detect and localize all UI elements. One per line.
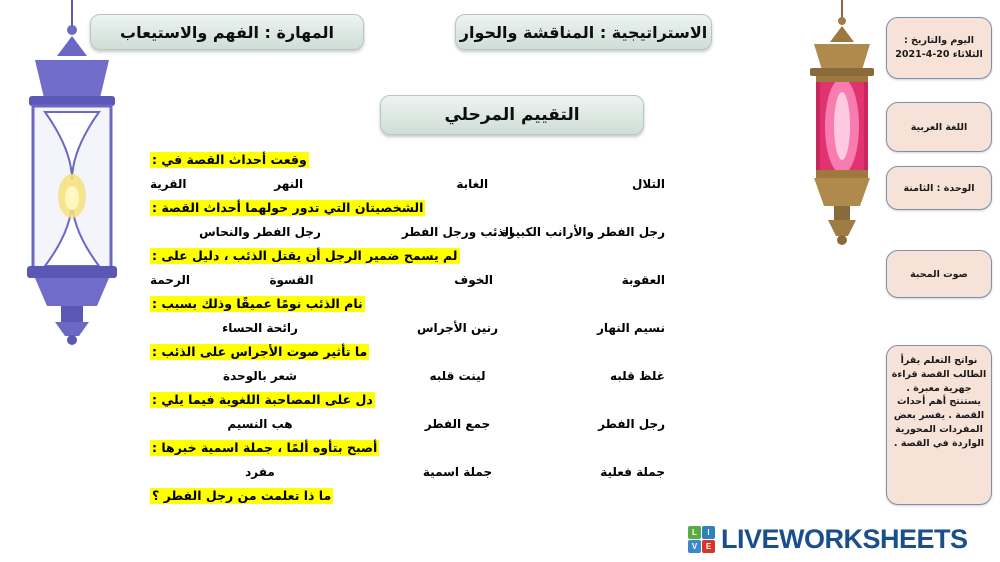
answer-option[interactable]: رنين الأجراس — [370, 321, 545, 335]
answer-option[interactable]: العقوبة — [554, 273, 665, 287]
unit-info-box: الوحدة : الثامنة — [886, 166, 992, 210]
logo-tile-v: V — [688, 540, 701, 553]
answer-option[interactable]: الرحمة — [150, 273, 190, 287]
date-info-box: اليوم والتاريخ : الثلاثاء 20-4-2021 — [886, 17, 992, 79]
logo-tile-e: E — [702, 540, 715, 553]
answer-option[interactable]: جملة اسمية — [370, 465, 545, 479]
assessment-title-box: التقييم المرحلي — [380, 95, 644, 135]
question-prompt-text: وقعت أحداث القصة في : — [150, 152, 309, 167]
question-prompt: أصبح بتأوه ألمًا ، جملة اسمية خبرها : — [150, 438, 695, 458]
answer-option[interactable]: الذئب ورجل الفطر — [370, 225, 545, 239]
question-prompt: وقعت أحداث القصة في : — [150, 150, 695, 170]
question-prompt: الشخصيتان التي تدور حولهما أحداث القصة : — [150, 198, 695, 218]
answer-option[interactable]: القسوة — [190, 273, 393, 287]
question-prompt-text: لم يسمح ضمير الرجل أن يقتل الذئب ، دليل … — [150, 248, 460, 263]
question-prompt-text: ما تأثير صوت الأجراس على الذئب : — [150, 344, 369, 359]
answer-option[interactable]: النهر — [187, 177, 391, 191]
question-prompt-text: أصبح بتأوه ألمًا ، جملة اسمية خبرها : — [150, 440, 379, 455]
learning-outcomes-text: نواتج التعلم يقرأ الطالب القصة قراءة جهر… — [891, 354, 987, 450]
answer-option[interactable]: رجل الفطر والنحاس — [150, 225, 370, 239]
question-prompt: نام الذئب نومًا عميقًا وذلك بسبب : — [150, 294, 695, 314]
skill-label-box: المهارة : الفهم والاستيعاب — [90, 14, 364, 50]
question-prompt: لم يسمح ضمير الرجل أن يقتل الذئب ، دليل … — [150, 246, 695, 266]
question-options-row: رجل الفطرجمع الفطرهب النسيم — [150, 410, 695, 438]
answer-option[interactable]: الغابة — [391, 177, 554, 191]
answer-option[interactable]: القرية — [150, 177, 187, 191]
answer-option[interactable]: جمع الفطر — [370, 417, 545, 431]
answer-option[interactable]: رجل الفطر — [545, 417, 665, 431]
lantern-decoration-right — [790, 0, 895, 250]
logo-tile-l: L — [688, 526, 701, 539]
answer-option[interactable]: الخوف — [393, 273, 554, 287]
answer-option[interactable]: رائحة الحساء — [150, 321, 370, 335]
lantern-decoration-left — [5, 0, 140, 345]
question-prompt-text: الشخصيتان التي تدور حولهما أحداث القصة : — [150, 200, 425, 215]
answer-option[interactable]: هب النسيم — [150, 417, 370, 431]
worksheet-page: المهارة : الفهم والاستيعاب الاستراتيجية … — [0, 0, 1000, 562]
logo-tile-i: I — [702, 526, 715, 539]
answer-option[interactable]: نسيم النهار — [545, 321, 665, 335]
question-prompt-text: دل على المصاحبة اللغوية فيما يلي : — [150, 392, 375, 407]
answer-option[interactable]: جملة فعلية — [545, 465, 665, 479]
logo-wordmark: LIVEWORKSHEETS — [721, 524, 968, 555]
question-prompt: ما تأثير صوت الأجراس على الذئب : — [150, 342, 695, 362]
question-options-row: جملة فعليةجملة اسميةمفرد — [150, 458, 695, 486]
question-prompt-text: ما ذا تعلمت من رجل الفطر ؟ — [150, 488, 333, 503]
answer-option[interactable]: مفرد — [150, 465, 370, 479]
story-title-box: صوت المحبة — [886, 250, 992, 298]
question-prompt: ما ذا تعلمت من رجل الفطر ؟ — [150, 486, 695, 506]
subject-info-box: اللغة العربية — [886, 102, 992, 152]
answer-option[interactable]: لينت قلبه — [370, 369, 545, 383]
answer-option[interactable]: شعر بالوحدة — [150, 369, 370, 383]
question-options-row: التلالالغابةالنهرالقرية — [150, 170, 695, 198]
answer-option[interactable]: رجل الفطر والأرانب الكبيرة . — [545, 225, 665, 239]
logo-letter-tiles: L I V E — [688, 526, 715, 553]
strategy-label-box: الاستراتيجية : المناقشة والحوار — [455, 14, 712, 50]
question-prompt: دل على المصاحبة اللغوية فيما يلي : — [150, 390, 695, 410]
answer-option[interactable]: غلظ قلبه — [545, 369, 665, 383]
learning-outcomes-box: نواتج التعلم يقرأ الطالب القصة قراءة جهر… — [886, 345, 992, 505]
question-options-row: العقوبةالخوفالقسوةالرحمة — [150, 266, 695, 294]
question-options-row: رجل الفطر والأرانب الكبيرة .الذئب ورجل ا… — [150, 218, 695, 246]
liveworksheets-logo: L I V E LIVEWORKSHEETS — [688, 524, 968, 555]
question-list: وقعت أحداث القصة في :التلالالغابةالنهرال… — [150, 150, 695, 510]
answer-option[interactable]: التلال — [554, 177, 665, 191]
question-options-row: غلظ قلبهلينت قلبهشعر بالوحدة — [150, 362, 695, 390]
question-options-row: نسيم النهاررنين الأجراسرائحة الحساء — [150, 314, 695, 342]
question-prompt-text: نام الذئب نومًا عميقًا وذلك بسبب : — [150, 296, 365, 311]
